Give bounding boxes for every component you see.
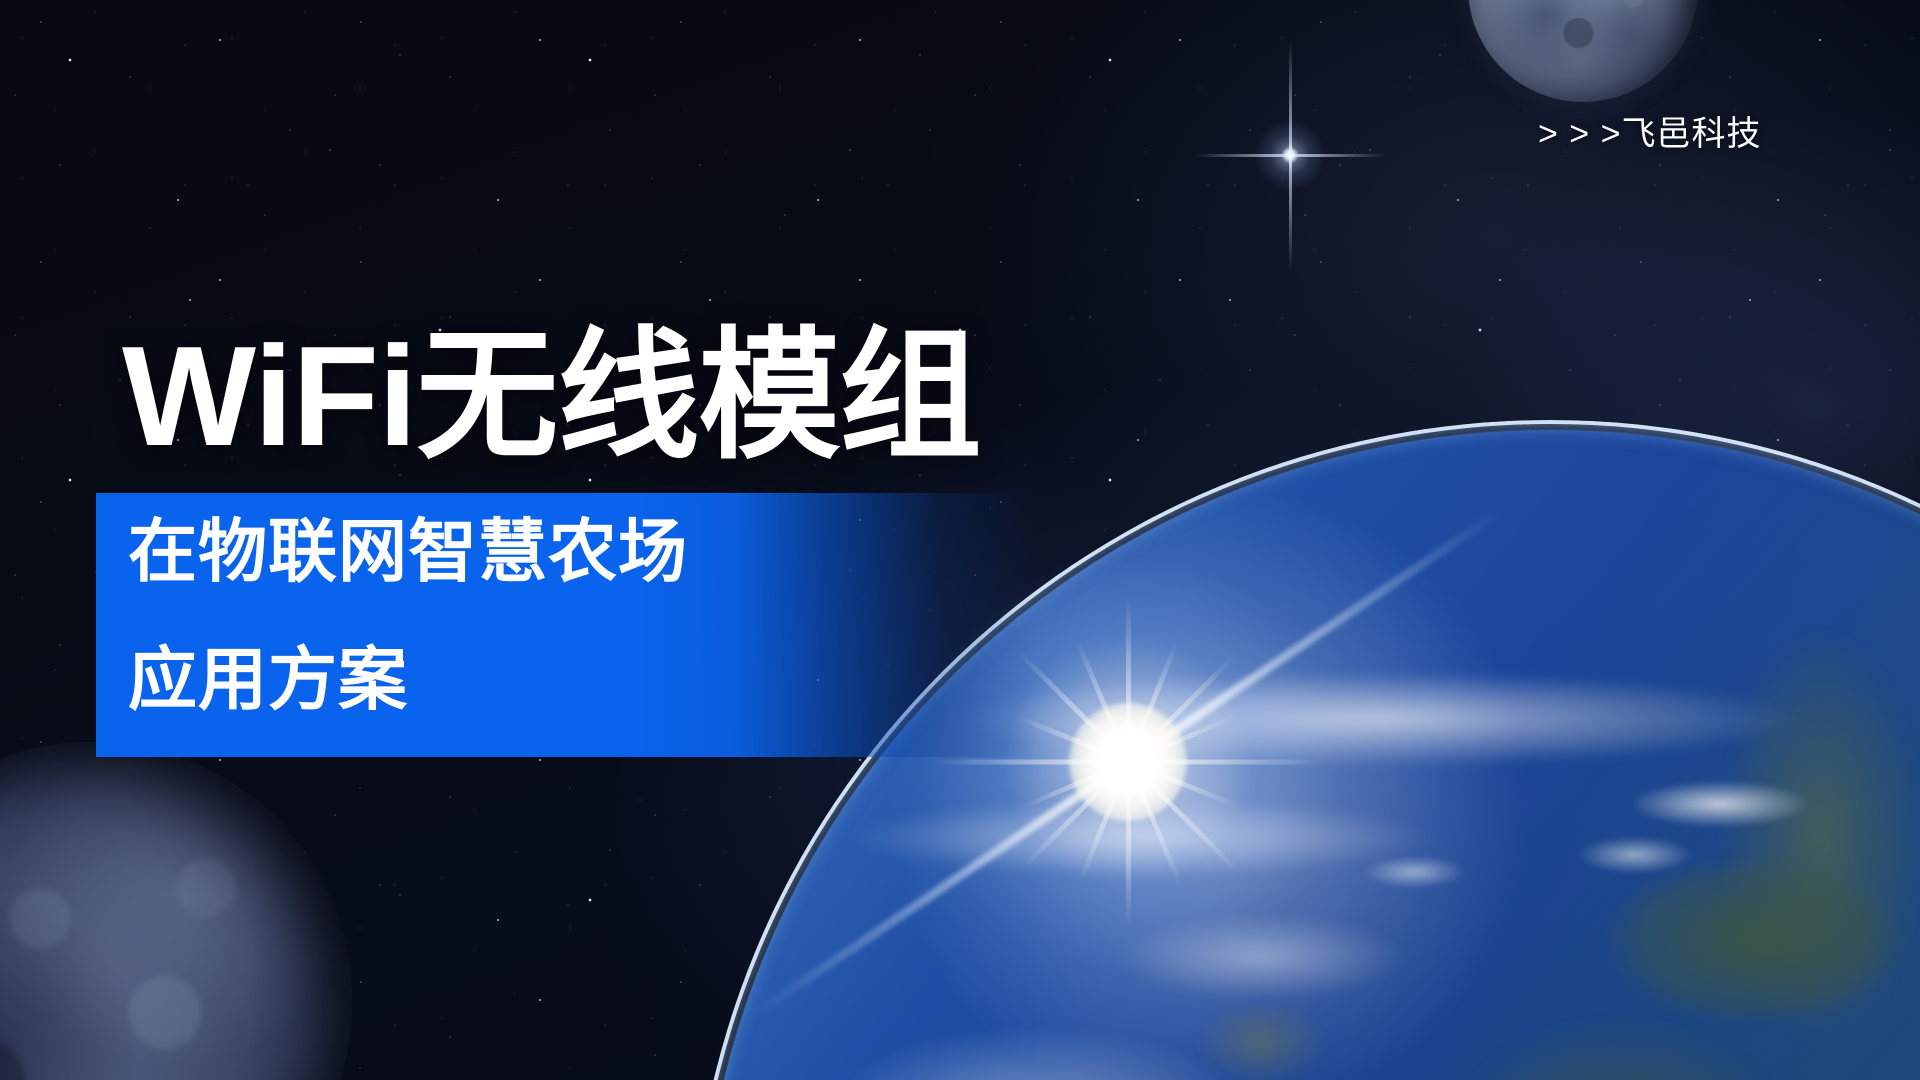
subtitle-banner: 在物联网智慧农场 应用方案 bbox=[96, 493, 1036, 757]
page-title: WiFi无线模组 bbox=[122, 326, 980, 468]
brand-logo[interactable]: > > >飞邑科技 bbox=[1538, 106, 1761, 155]
poster-canvas: > > >飞邑科技 WiFi无线模组 在物联网智慧农场 应用方案 bbox=[0, 0, 1920, 1080]
subtitle-line-2: 应用方案 bbox=[128, 645, 408, 714]
subtitle-line-1: 在物联网智慧农场 bbox=[128, 517, 688, 586]
